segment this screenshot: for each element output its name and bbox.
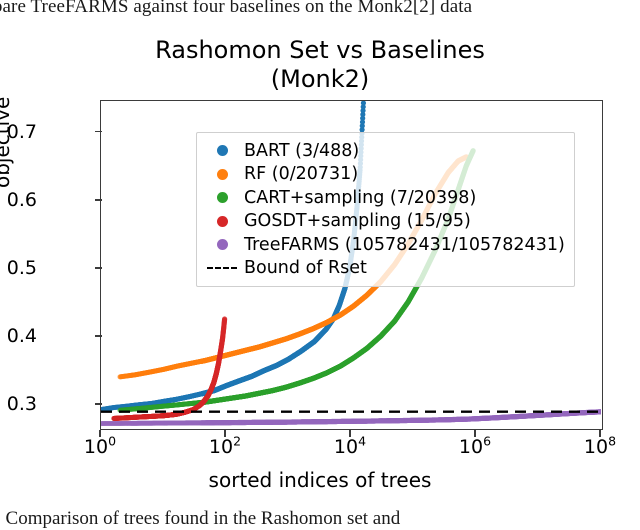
legend-item: BART (3/488) xyxy=(204,139,565,163)
x-tick-label: 100 xyxy=(40,436,160,458)
y-tick-label: 0.6 xyxy=(0,189,37,211)
x-tick-mark xyxy=(349,430,351,437)
legend-label-bound: Bound of Rset xyxy=(240,258,367,278)
y-tick-mark xyxy=(95,335,102,337)
legend-label-rf: RF (0/20731) xyxy=(240,164,358,184)
chart-title-line1: Rashomon Set vs Baselines xyxy=(0,36,640,65)
y-tick-label: 0.3 xyxy=(0,393,37,415)
y-tick-label: 0.4 xyxy=(0,325,37,347)
legend-marker-bound xyxy=(204,267,240,269)
x-tick-mark xyxy=(224,430,226,437)
legend-label-cart: CART+sampling (7/20398) xyxy=(240,188,476,208)
y-tick-mark xyxy=(95,131,102,133)
legend-label-treefarms: TreeFARMS (105782431/105782431) xyxy=(240,235,565,255)
legend-marker-gosdt xyxy=(204,216,240,227)
x-axis-label: sorted indices of trees xyxy=(0,468,640,492)
y-tick-label: 0.5 xyxy=(0,257,37,279)
x-tick-label: 108 xyxy=(540,436,640,458)
x-tick-mark xyxy=(474,430,476,437)
cropped-body-text-top: mpare TreeFARMS against four baselines o… xyxy=(0,0,640,18)
legend-label-gosdt: GOSDT+sampling (15/95) xyxy=(240,211,471,231)
legend-marker-rf xyxy=(204,169,240,180)
legend-item: CART+sampling (7/20398) xyxy=(204,186,565,210)
legend-item: RF (0/20731) xyxy=(204,163,565,187)
x-tick-label: 102 xyxy=(165,436,285,458)
x-tick-mark xyxy=(99,430,101,437)
chart-title-line2: (Monk2) xyxy=(0,65,640,94)
legend-item: TreeFARMS (105782431/105782431) xyxy=(204,233,565,257)
y-tick-mark xyxy=(95,403,102,405)
y-tick-mark xyxy=(95,267,102,269)
figure-rashomon-set-vs-baselines: Rashomon Set vs Baselines (Monk2) object… xyxy=(0,28,640,503)
x-tick-mark xyxy=(599,430,601,437)
y-tick-label: 0.7 xyxy=(0,121,37,143)
chart-title: Rashomon Set vs Baselines (Monk2) xyxy=(0,36,640,94)
chart-legend: BART (3/488) RF (0/20731) CART+sampling … xyxy=(196,132,575,287)
legend-label-bart: BART (3/488) xyxy=(240,141,359,161)
legend-marker-treefarms xyxy=(204,239,240,250)
legend-item: GOSDT+sampling (15/95) xyxy=(204,210,565,234)
cropped-caption-text-bottom: 2: Comparison of trees found in the Rash… xyxy=(0,508,640,530)
legend-marker-bart xyxy=(204,145,240,156)
y-tick-mark xyxy=(95,199,102,201)
x-tick-label: 104 xyxy=(290,436,410,458)
legend-marker-cart xyxy=(204,192,240,203)
legend-item: Bound of Rset xyxy=(204,257,565,281)
x-tick-label: 106 xyxy=(415,436,535,458)
